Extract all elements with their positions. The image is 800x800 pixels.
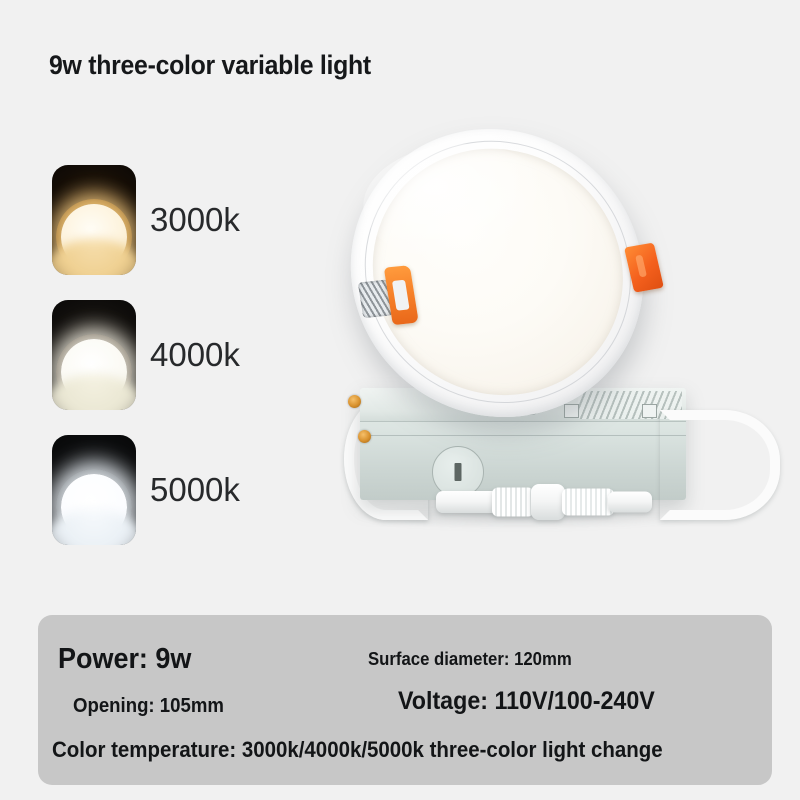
product-detail-page: 9w three-color variable light 3000k 4000… (0, 0, 800, 800)
color-temperature-item-3000k[interactable]: 3000k (52, 165, 312, 275)
spec-surface-diameter: Surface diameter: 120mm (368, 649, 572, 670)
spec-power: Power: 9w (58, 643, 191, 676)
color-temperature-item-4000k[interactable]: 4000k (52, 300, 312, 410)
color-temperature-item-5000k[interactable]: 5000k (52, 435, 312, 545)
page-title: 9w three-color variable light (49, 50, 371, 81)
connector-segment-3 (531, 484, 565, 520)
connector-segment-5 (608, 492, 652, 513)
connector-segment-4 (562, 489, 614, 516)
cct-swatch-5000k-icon (52, 435, 136, 545)
cct-label-4000k: 4000k (150, 336, 240, 374)
specs-panel: Power: 9w Surface diameter: 120mm Openin… (38, 615, 772, 785)
connector-segment-1 (436, 491, 500, 513)
orange-spring-clip-left (356, 265, 419, 328)
round-led-panel (330, 115, 664, 432)
quick-connector (436, 482, 652, 522)
driver-seam (360, 435, 686, 436)
cct-swatch-3000k-icon (52, 165, 136, 275)
driver-screw-top (348, 395, 361, 408)
cct-swatch-4000k-icon (52, 300, 136, 410)
driver-screw-bottom (358, 430, 371, 443)
power-cable-right-loop (660, 410, 780, 520)
driver-emboss-pin (455, 463, 462, 481)
driver-square-b (642, 404, 657, 418)
cct-label-3000k: 3000k (150, 201, 240, 239)
spec-color-temperature: Color temperature: 3000k/4000k/5000k thr… (52, 737, 663, 763)
led-downlight-product-photo (330, 110, 790, 560)
cct-label-5000k: 5000k (150, 471, 240, 509)
spec-voltage: Voltage: 110V/100-240V (398, 687, 655, 716)
connector-segment-2 (492, 488, 534, 517)
spec-opening: Opening: 105mm (73, 695, 224, 718)
